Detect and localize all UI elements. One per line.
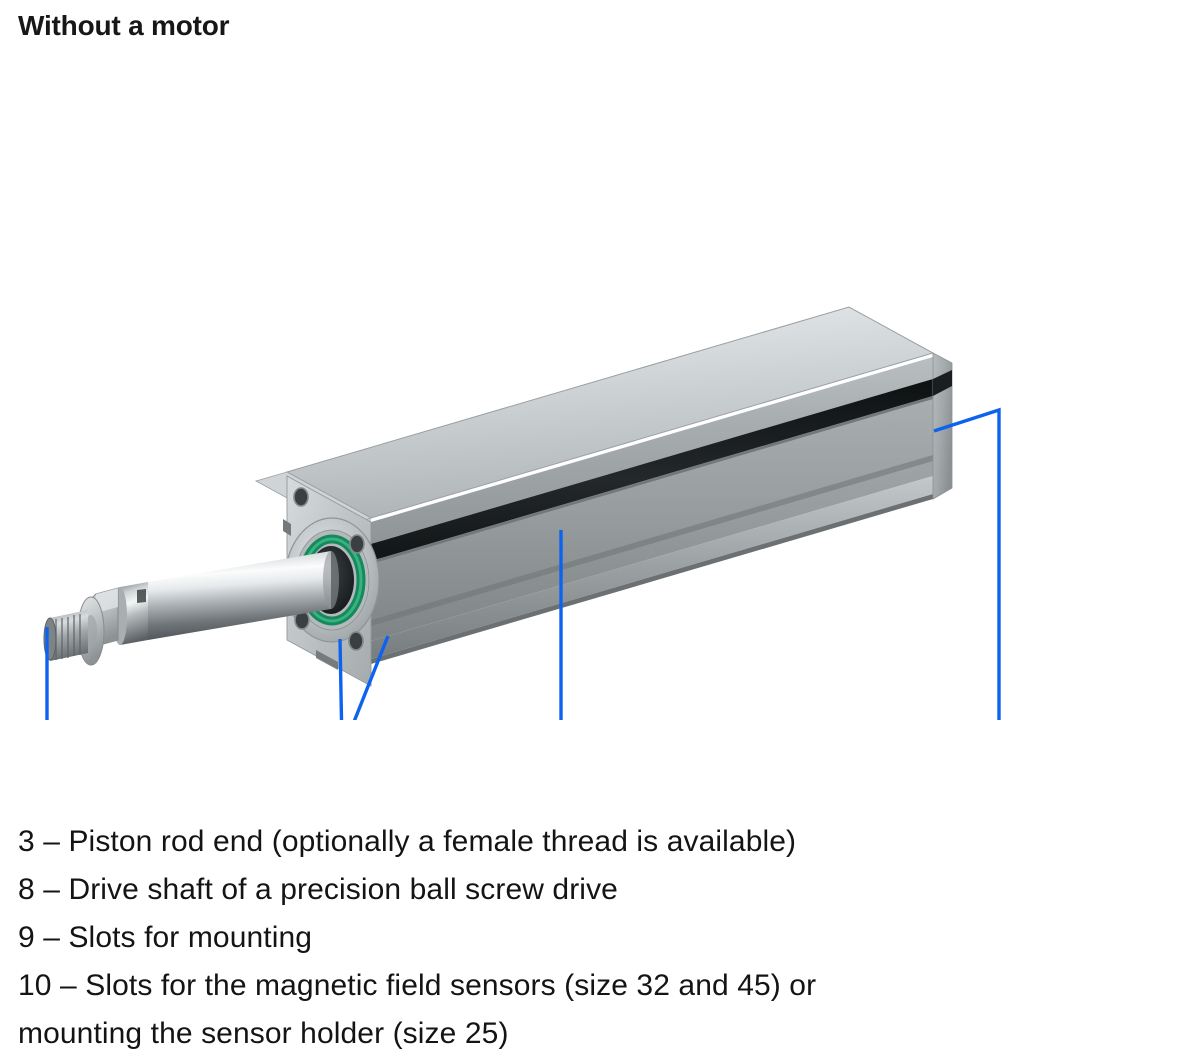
legend: 3 – Piston rod end (optionally a female … (18, 818, 1138, 1058)
piston-rod-assembly (44, 551, 339, 665)
mounting-hole-bottom-right (349, 632, 363, 650)
leader-line-9-a (340, 639, 342, 720)
legend-item-8: 8 – Drive shaft of a precision ball scre… (18, 866, 1138, 914)
page-title: Without a motor (18, 10, 229, 42)
legend-item-10-continued: mounting the sensor holder (size 25) (18, 1010, 1138, 1058)
piston-rod-end-face (323, 551, 339, 609)
legend-item-3: 3 – Piston rod end (optionally a female … (18, 818, 1138, 866)
mounting-hole-top-left (294, 488, 308, 506)
legend-item-10: 10 – Slots for the magnetic field sensor… (18, 962, 1138, 1010)
threaded-rod-end (44, 610, 88, 661)
legend-item-9: 9 – Slots for mounting (18, 914, 1138, 962)
rod-notch (137, 589, 146, 603)
actuator-illustration: 3 9 10 8 (0, 120, 1200, 720)
mounting-hole-top-right (350, 535, 364, 553)
actuator-body (256, 307, 952, 686)
product-figure: 3 9 10 8 (0, 120, 1200, 720)
